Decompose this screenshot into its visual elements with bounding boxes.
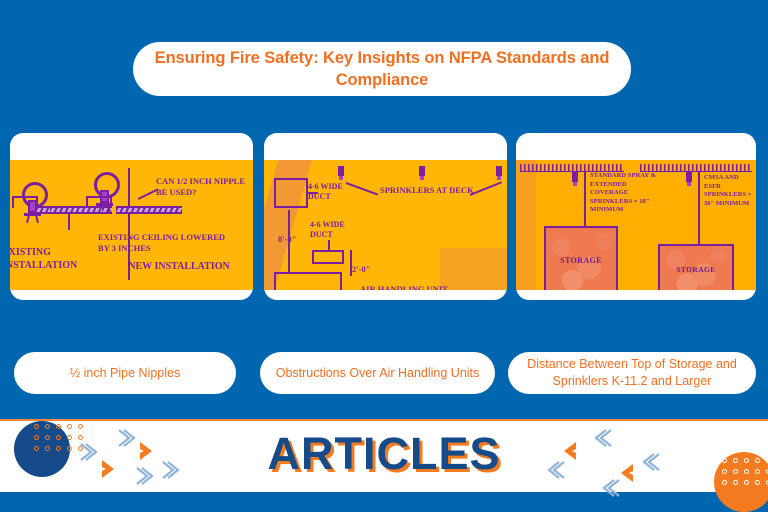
leader-line-deck-left xyxy=(346,182,378,195)
sprinkler-deck-2-icon xyxy=(419,166,425,180)
ceiling-bracket-left xyxy=(12,196,38,208)
dim-ceiling-drop xyxy=(68,212,70,230)
label-existing-ceiling-lowered: EXISTING CEILING LOWERED BY 3 INCHES xyxy=(98,232,238,254)
caption-pipe-nipples[interactable]: ½ inch Pipe Nipples xyxy=(14,352,236,394)
duct-lower-box xyxy=(312,250,344,264)
caption-storage-distance[interactable]: Distance Between Top of Storage and Spri… xyxy=(508,352,756,394)
footer-wordmark: ARTICLES xyxy=(0,428,768,480)
label-duct-lower: 4-6 WIDE DUCT xyxy=(310,220,354,240)
sprinkler-left-icon xyxy=(572,172,578,186)
label-air-handling-unit: AIR HANDLING UNIT xyxy=(360,284,448,290)
sprinkler-deck-1-icon xyxy=(338,166,344,180)
storage-label-left: STORAGE xyxy=(560,256,602,265)
dim-right-clearance xyxy=(698,172,700,244)
slide-canvas: Ensuring Fire Safety: Key Insights on NF… xyxy=(0,0,768,492)
label-dim-8ft: 8'-0" xyxy=(278,234,296,244)
deck-left xyxy=(520,164,624,172)
figure-storage-clearance-diagram: STANDARD SPRAY & EXTENDED COVERAGE SPRIN… xyxy=(516,160,756,290)
caption-text: Obstructions Over Air Handling Units xyxy=(276,365,480,382)
storage-label-right: STORAGE xyxy=(676,265,715,274)
air-handling-unit-box xyxy=(274,272,342,290)
caption-obstructions[interactable]: Obstructions Over Air Handling Units xyxy=(260,352,495,394)
sprinkler-deck-3-icon xyxy=(496,166,502,180)
sprinkler-right-icon xyxy=(686,172,692,186)
figure-pipe-nipple-diagram: EXISTING INSTALLATION CAN 1/2 INCH NIPPL… xyxy=(10,160,253,290)
label-standard-spray-clearance: STANDARD SPRAY & EXTENDED COVERAGE SPRIN… xyxy=(590,172,666,215)
label-duct-upper: 4-6 WIDE DUCT xyxy=(308,182,350,202)
label-dim-2ft: 2'-0" xyxy=(352,264,370,274)
label-cmsa-esfr-clearance: CMSA AND ESFR SPRINKLERS = 36" MINIMUM xyxy=(704,174,754,208)
background-streak-3 xyxy=(516,160,536,290)
caption-text: ½ inch Pipe Nipples xyxy=(70,365,180,382)
label-new-installation: NEW INSTALLATION xyxy=(114,260,244,273)
storage-block-right: STORAGE xyxy=(658,244,734,290)
deck-right xyxy=(640,164,752,172)
dim-left-clearance xyxy=(584,172,586,226)
chevron-left-outline-icon xyxy=(600,478,622,498)
leader-duct-lower xyxy=(328,240,330,250)
footer-rule xyxy=(0,419,768,421)
leader-line-deck-right xyxy=(470,181,502,195)
card-storage-sprinkler-distance[interactable]: STANDARD SPRAY & EXTENDED COVERAGE SPRIN… xyxy=(516,133,756,300)
page-title: Ensuring Fire Safety: Key Insights on NF… xyxy=(149,47,615,92)
storage-block-left: STORAGE xyxy=(544,226,618,290)
ceiling-bracket-right xyxy=(86,196,112,208)
label-can-half-inch-nipple: CAN 1/2 INCH NIPPLE BE USED? xyxy=(156,176,253,198)
slide-title-pill: Ensuring Fire Safety: Key Insights on NF… xyxy=(133,42,631,96)
figure-air-handling-unit-diagram: SPRINKLERS AT DECK 4-6 WIDE DUCT 4-6 WID… xyxy=(264,160,507,290)
pipe-new-right xyxy=(116,206,182,214)
caption-text: Distance Between Top of Storage and Spri… xyxy=(518,356,746,390)
card-pipe-nipples[interactable]: EXISTING INSTALLATION CAN 1/2 INCH NIPPL… xyxy=(10,133,253,300)
background-streak-2 xyxy=(440,248,507,290)
duct-upper-box xyxy=(274,178,308,208)
label-sprinklers-at-deck: SPRINKLERS AT DECK xyxy=(380,185,474,196)
card-obstructions-air-handling[interactable]: SPRINKLERS AT DECK 4-6 WIDE DUCT 4-6 WID… xyxy=(264,133,507,300)
